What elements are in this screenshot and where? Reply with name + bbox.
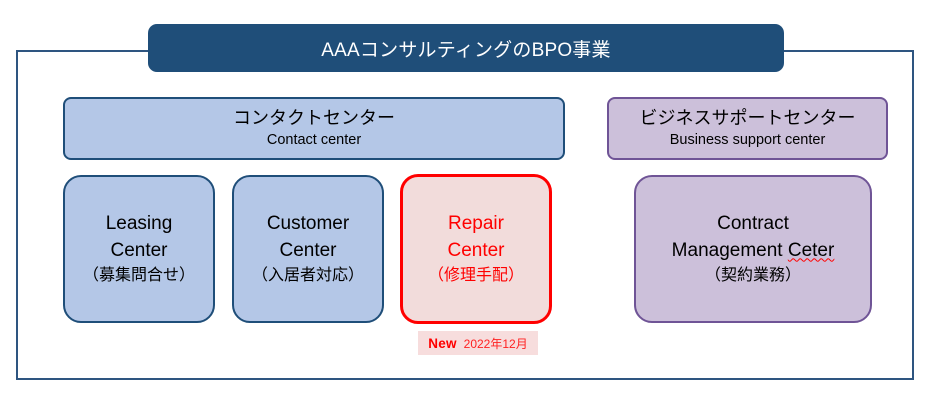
card-customer-center-line2: Center — [279, 238, 336, 264]
card-customer-center-line1: Customer — [267, 211, 349, 237]
new-badge: New 2022年12月 — [418, 331, 538, 355]
card-contract-management-center-line2: Management Ceter — [672, 238, 835, 264]
card-leasing-center-note: （募集問合せ） — [83, 265, 195, 287]
group-header-business-support-center-label-jp: ビジネスサポートセンター — [640, 107, 856, 130]
card-contract-management-center: Contract Management Ceter （契約業務） — [634, 175, 872, 323]
card-repair-center: Repair Center （修理手配） — [400, 174, 552, 324]
card-contract-management-center-line1: Contract — [717, 211, 789, 237]
group-header-contact-center-label-en: Contact center — [267, 131, 361, 150]
new-badge-label: New — [428, 336, 456, 351]
card-contract-management-center-line2-prefix: Management — [672, 240, 788, 261]
card-repair-center-line1: Repair — [448, 211, 504, 237]
card-contract-management-center-note: （契約業務） — [705, 265, 801, 287]
card-leasing-center-line1: Leasing — [106, 211, 173, 237]
card-customer-center-note: （入居者対応） — [252, 265, 364, 287]
group-header-business-support-center: ビジネスサポートセンター Business support center — [607, 97, 888, 160]
card-repair-center-note: （修理手配） — [428, 265, 524, 287]
group-header-contact-center-label-jp: コンタクトセンター — [233, 107, 395, 130]
card-leasing-center: Leasing Center （募集問合せ） — [63, 175, 215, 323]
card-customer-center: Customer Center （入居者対応） — [232, 175, 384, 323]
title-banner-text: AAAコンサルティングのBPO事業 — [321, 35, 610, 62]
card-leasing-center-line2: Center — [110, 238, 167, 264]
diagram-canvas: AAAコンサルティングのBPO事業 コンタクトセンター Contact cent… — [0, 0, 934, 400]
card-repair-center-line2: Center — [447, 238, 504, 264]
title-banner: AAAコンサルティングのBPO事業 — [148, 24, 784, 72]
group-header-business-support-center-label-en: Business support center — [670, 131, 826, 150]
new-badge-date: 2022年12月 — [464, 335, 528, 352]
spellcheck-misspelled-word: Ceter — [788, 238, 834, 264]
group-header-contact-center: コンタクトセンター Contact center — [63, 97, 565, 160]
